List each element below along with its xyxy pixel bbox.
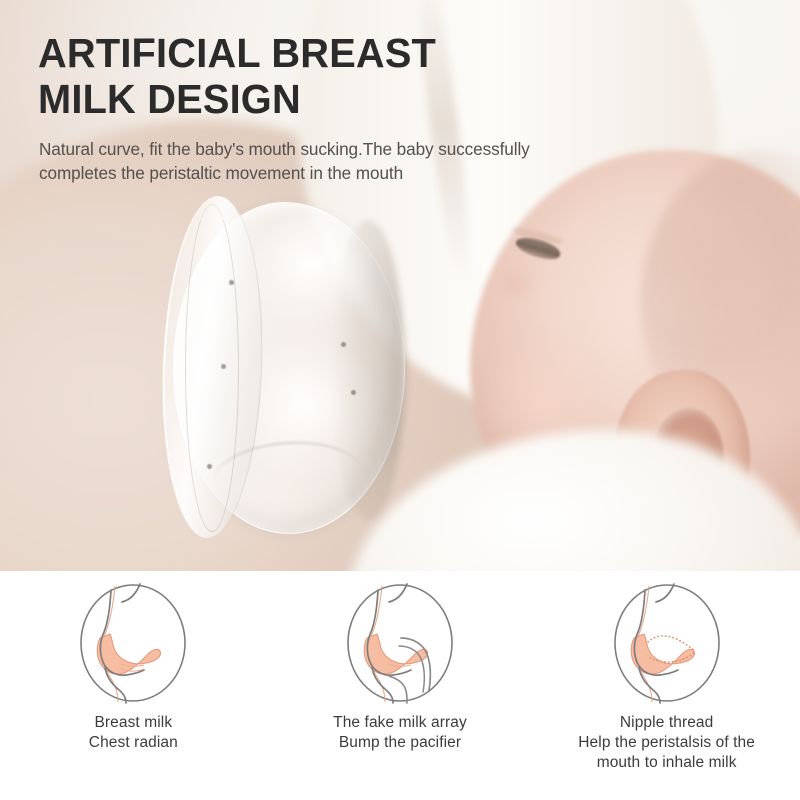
- feature-caption: Nipple thread Help the peristalsis of th…: [578, 713, 755, 772]
- breast-milk-latch-icon: [74, 582, 192, 704]
- feature-item-pacifier-bump: The fake milk array Bump the pacifier: [267, 571, 534, 772]
- page-subtitle-line-1: Natural curve, fit the baby's mouth suck…: [39, 137, 738, 161]
- feature-caption-line-1: The fake milk array: [333, 713, 467, 733]
- headline-block: ARTIFICIAL BREAST MILK DESIGN Natural cu…: [38, 30, 738, 186]
- page-title: ARTIFICIAL BREAST MILK DESIGN: [38, 30, 717, 123]
- shield-speck-1: [229, 280, 234, 285]
- feature-item-breast-milk: Breast milk Chest radian: [0, 571, 267, 772]
- feature-caption-line-2: Help the peristalsis of the: [578, 733, 755, 753]
- feature-item-nipple-thread: Nipple thread Help the peristalsis of th…: [533, 571, 800, 772]
- feature-list: Breast milk Chest radian: [0, 571, 800, 772]
- feature-caption: Breast milk Chest radian: [89, 713, 178, 753]
- shield-speck-2: [221, 364, 226, 369]
- pacifier-bump-icon: [341, 582, 459, 704]
- nipple-shield-product: [155, 192, 410, 542]
- feature-caption-line-1: Breast milk: [89, 713, 178, 733]
- feature-caption-line-1: Nipple thread: [578, 713, 755, 733]
- feature-caption-line-2: Bump the pacifier: [333, 733, 467, 753]
- feature-caption-line-3: mouth to inhale milk: [578, 753, 755, 773]
- nipple-thread-icon: [608, 582, 726, 704]
- page-title-line-1: ARTIFICIAL BREAST: [38, 30, 717, 76]
- page-title-line-2: MILK DESIGN: [38, 76, 717, 122]
- shield-speck-3: [207, 464, 212, 469]
- shield-speck-4: [351, 390, 356, 395]
- page-subtitle: Natural curve, fit the baby's mouth suck…: [39, 137, 738, 186]
- page-subtitle-line-2: completes the peristaltic movement in th…: [39, 161, 738, 185]
- feature-caption-line-2: Chest radian: [89, 733, 178, 753]
- shield-speck-5: [341, 342, 346, 347]
- hero-photo-section: ARTIFICIAL BREAST MILK DESIGN Natural cu…: [0, 0, 800, 571]
- feature-panel: Breast milk Chest radian: [0, 571, 800, 800]
- product-infographic-page: ARTIFICIAL BREAST MILK DESIGN Natural cu…: [0, 0, 800, 800]
- shield-highlight-upper: [251, 216, 375, 336]
- baby-nose-shading: [478, 262, 538, 316]
- feature-caption: The fake milk array Bump the pacifier: [333, 713, 467, 753]
